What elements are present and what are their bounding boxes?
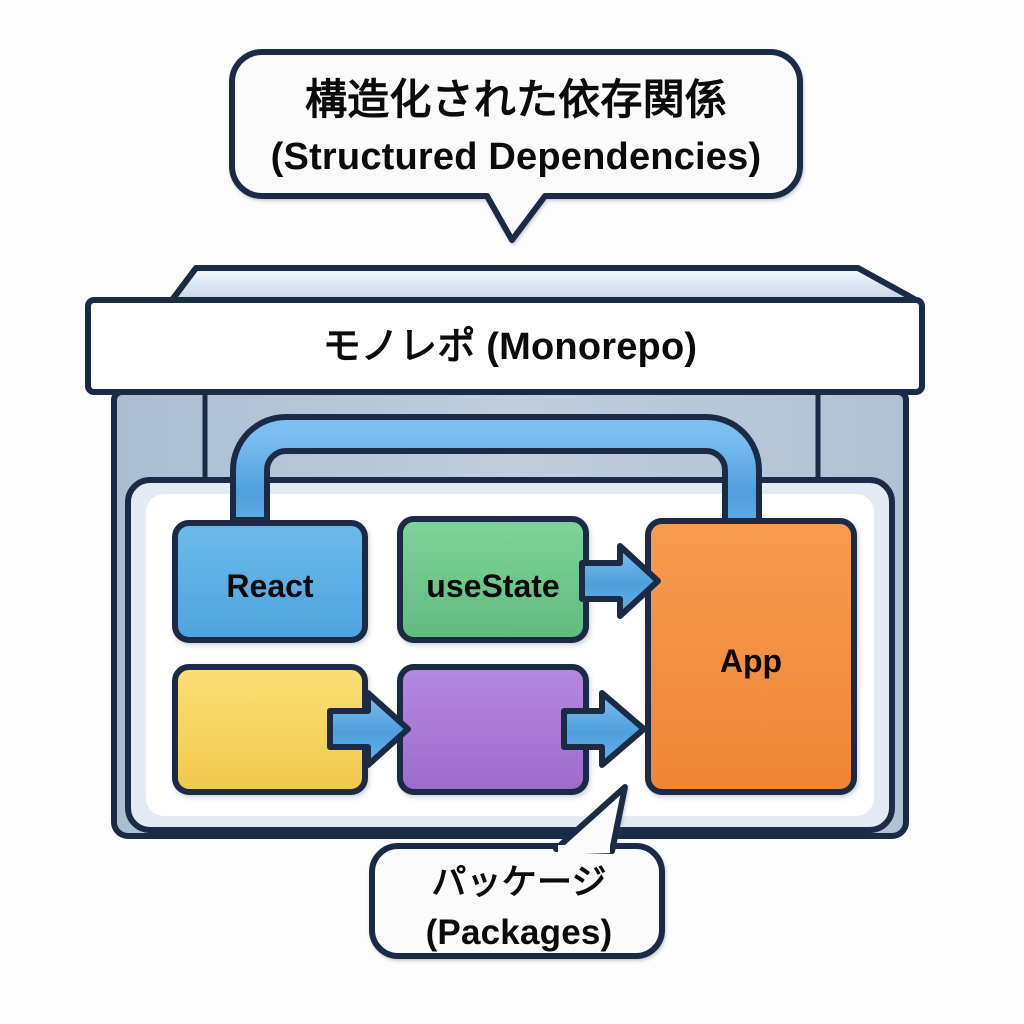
package-node-app-label: App bbox=[648, 643, 854, 680]
monorepo-lid-label: モノレポ (Monorepo) bbox=[100, 325, 920, 370]
package-node-usestate-label: useState bbox=[398, 568, 588, 605]
structured-dependencies-line2: (Structured Dependencies) bbox=[238, 135, 794, 180]
package-node-purple[interactable] bbox=[400, 667, 586, 792]
packages-callout-line2: (Packages) bbox=[378, 912, 660, 953]
packages-callout-line1: パッケージ bbox=[378, 862, 660, 903]
diagram-canvas: 構造化された依存関係 (Structured Dependencies) モノレ… bbox=[0, 0, 1024, 1024]
package-node-react-label: React bbox=[175, 568, 365, 605]
structured-dependencies-line1: 構造化された依存関係 bbox=[238, 75, 794, 125]
